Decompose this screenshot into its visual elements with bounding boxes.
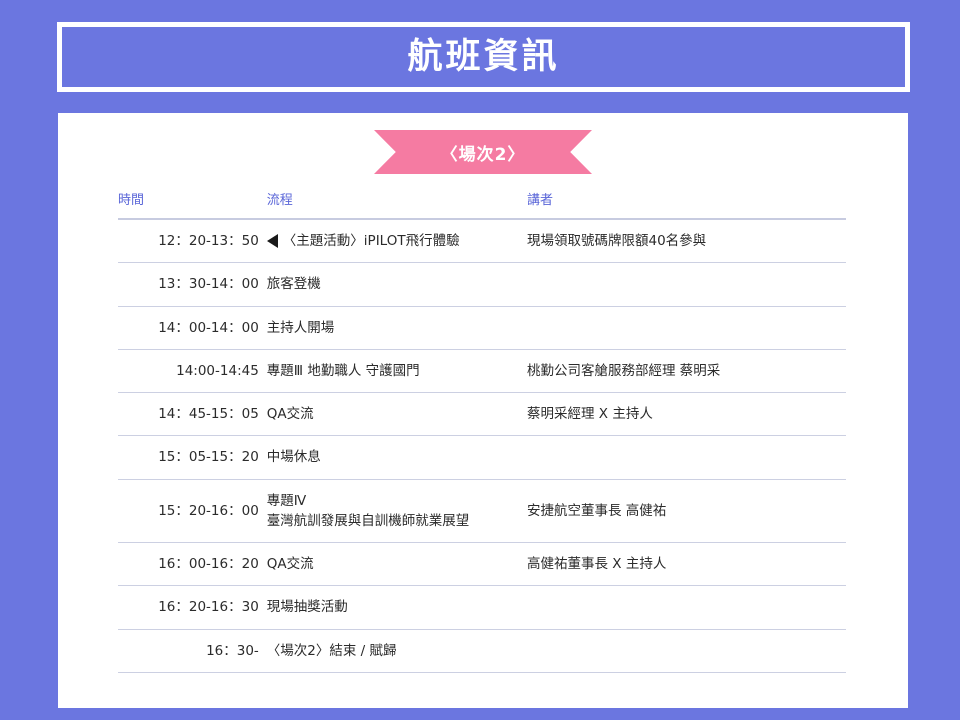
column-header-flow: 流程: [267, 187, 527, 219]
cell-flow: 〈場次2〉結束 / 賦歸: [267, 629, 527, 672]
flow-text: 〈主題活動〉iPILOT飛行體驗: [283, 231, 460, 251]
schedule-table-head: 時間 流程 講者: [118, 187, 846, 219]
session-ribbon-container: 〈場次2〉: [58, 130, 908, 174]
page-title: 航班資訊: [407, 40, 559, 75]
column-header-speaker: 講者: [527, 187, 846, 219]
cell-time: 15：05-15：20: [118, 436, 267, 479]
cell-time: 14：45-15：05: [118, 393, 267, 436]
flow-content: 主持人開場: [267, 318, 519, 338]
cell-flow: 專題Ⅳ臺灣航訓發展與自訓機師就業展望: [267, 479, 527, 543]
table-row: 14：00-14：00主持人開場: [118, 306, 846, 349]
flow-text: QA交流: [267, 554, 314, 574]
flow-line-1: 〈場次2〉結束 / 賦歸: [267, 641, 397, 661]
cell-time: 16：20-16：30: [118, 586, 267, 629]
flow-line-2: 臺灣航訓發展與自訓機師就業展望: [267, 511, 470, 531]
flow-text: 中場休息: [267, 447, 321, 467]
table-row: 15：20-16：00專題Ⅳ臺灣航訓發展與自訓機師就業展望安捷航空董事長 高健祐: [118, 479, 846, 543]
cell-speaker: 蔡明采經理 X 主持人: [527, 393, 846, 436]
cell-time: 12：20-13：50: [118, 219, 267, 263]
flow-content: QA交流: [267, 554, 519, 574]
table-row: 12：20-13：50〈主題活動〉iPILOT飛行體驗現場領取號碼牌限額40名參…: [118, 219, 846, 263]
flow-text: 主持人開場: [267, 318, 335, 338]
table-row: 16：30-〈場次2〉結束 / 賦歸: [118, 629, 846, 672]
cell-flow: 中場休息: [267, 436, 527, 479]
cell-speaker: 桃勤公司客艙服務部經理 蔡明采: [527, 349, 846, 392]
flow-line-1: 主持人開場: [267, 318, 335, 338]
cell-flow: 旅客登機: [267, 263, 527, 306]
cell-flow: 主持人開場: [267, 306, 527, 349]
cell-speaker: [527, 629, 846, 672]
cell-speaker: [527, 586, 846, 629]
flow-line-1: 〈主題活動〉iPILOT飛行體驗: [283, 231, 460, 251]
content-panel: 〈場次2〉 時間 流程 講者 12：20-13：50〈主題活動〉iPILOT飛行…: [58, 113, 908, 708]
cell-speaker: [527, 306, 846, 349]
cell-flow: QA交流: [267, 543, 527, 586]
flow-text: 〈場次2〉結束 / 賦歸: [267, 641, 397, 661]
page-title-banner: 航班資訊: [57, 22, 910, 92]
flow-line-1: 中場休息: [267, 447, 321, 467]
flow-line-1: 現場抽獎活動: [267, 597, 348, 617]
flow-content: 旅客登機: [267, 274, 519, 294]
flow-content: 中場休息: [267, 447, 519, 467]
cell-flow: 現場抽獎活動: [267, 586, 527, 629]
table-row: 14:00-14:45專題Ⅲ 地勤職人 守護國門桃勤公司客艙服務部經理 蔡明采: [118, 349, 846, 392]
column-header-time: 時間: [118, 187, 267, 219]
session-ribbon-label: 〈場次2〉: [441, 140, 526, 165]
flow-text: 旅客登機: [267, 274, 321, 294]
flow-text: QA交流: [267, 404, 314, 424]
table-row: 16：20-16：30現場抽獎活動: [118, 586, 846, 629]
cell-time: 16：00-16：20: [118, 543, 267, 586]
cell-time: 14：00-14：00: [118, 306, 267, 349]
cell-time: 16：30-: [118, 629, 267, 672]
cell-time: 15：20-16：00: [118, 479, 267, 543]
flow-line-1: QA交流: [267, 404, 314, 424]
flow-content: 〈主題活動〉iPILOT飛行體驗: [267, 231, 519, 251]
table-row: 16：00-16：20QA交流高健祐董事長 X 主持人: [118, 543, 846, 586]
flow-line-1: QA交流: [267, 554, 314, 574]
flow-line-1: 專題Ⅲ 地勤職人 守護國門: [267, 361, 420, 381]
cell-flow: 〈主題活動〉iPILOT飛行體驗: [267, 219, 527, 263]
flow-content: 專題Ⅲ 地勤職人 守護國門: [267, 361, 519, 381]
cell-speaker: 現場領取號碼牌限額40名參與: [527, 219, 846, 263]
flow-content: QA交流: [267, 404, 519, 424]
flow-line-1: 旅客登機: [267, 274, 321, 294]
cell-flow: QA交流: [267, 393, 527, 436]
cell-speaker: 高健祐董事長 X 主持人: [527, 543, 846, 586]
session-ribbon: 〈場次2〉: [374, 130, 592, 174]
cell-speaker: 安捷航空董事長 高健祐: [527, 479, 846, 543]
schedule-table: 時間 流程 講者 12：20-13：50〈主題活動〉iPILOT飛行體驗現場領取…: [118, 187, 846, 673]
flow-content: 〈場次2〉結束 / 賦歸: [267, 641, 519, 661]
flow-content: 現場抽獎活動: [267, 597, 519, 617]
cell-time: 14:00-14:45: [118, 349, 267, 392]
table-row: 13：30-14：00旅客登機: [118, 263, 846, 306]
flow-text: 專題Ⅳ臺灣航訓發展與自訓機師就業展望: [267, 491, 470, 532]
flow-text: 現場抽獎活動: [267, 597, 348, 617]
cell-speaker: [527, 436, 846, 479]
left-triangle-icon: [267, 234, 278, 248]
table-header-row: 時間 流程 講者: [118, 187, 846, 219]
table-row: 15：05-15：20中場休息: [118, 436, 846, 479]
cell-flow: 專題Ⅲ 地勤職人 守護國門: [267, 349, 527, 392]
flow-line-1: 專題Ⅳ: [267, 491, 470, 511]
table-row: 14：45-15：05QA交流蔡明采經理 X 主持人: [118, 393, 846, 436]
cell-speaker: [527, 263, 846, 306]
cell-time: 13：30-14：00: [118, 263, 267, 306]
flow-text: 專題Ⅲ 地勤職人 守護國門: [267, 361, 420, 381]
flow-content: 專題Ⅳ臺灣航訓發展與自訓機師就業展望: [267, 491, 519, 532]
schedule-table-body: 12：20-13：50〈主題活動〉iPILOT飛行體驗現場領取號碼牌限額40名參…: [118, 219, 846, 672]
